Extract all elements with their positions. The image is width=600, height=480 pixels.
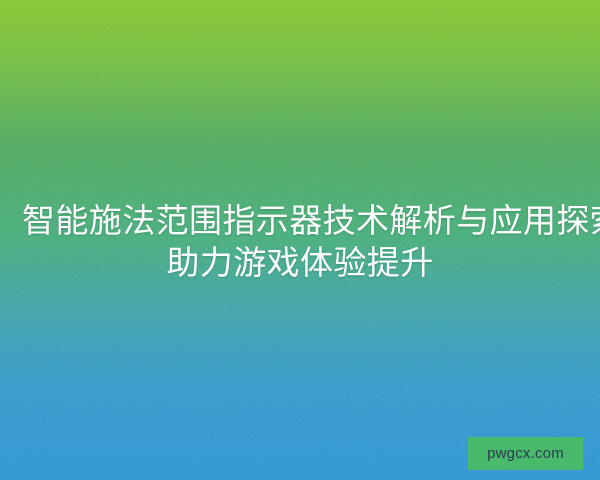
page-title: 智能施法范围指示器技术解析与应用探索 助力游戏体验提升 [0, 200, 600, 284]
cover-image-canvas: 智能施法范围指示器技术解析与应用探索 助力游戏体验提升 pwgcx.com [0, 0, 600, 480]
title-line-1: 智能施法范围指示器技术解析与应用探索 [22, 200, 578, 242]
watermark-badge: pwgcx.com [468, 437, 583, 470]
title-line-2: 助力游戏体验提升 [22, 242, 578, 284]
watermark-label: pwgcx.com [487, 446, 564, 461]
